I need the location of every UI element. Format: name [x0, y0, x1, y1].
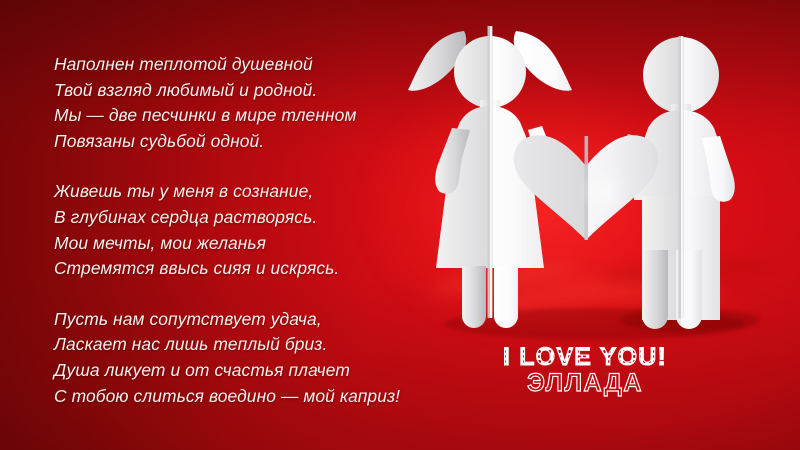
- valentine-poem-card: Наполнен теплотой душевной Твой взгляд л…: [0, 0, 800, 450]
- i-love-you-text: I LOVE YOU!: [487, 344, 683, 370]
- logo-block: I LOVE YOU! ЭЛЛАДА: [487, 344, 683, 397]
- i-love-you-glyphs: I LOVE YOU!: [503, 344, 667, 370]
- brand-glyphs: ЭЛЛАДА: [527, 369, 643, 397]
- heart-sheen: [578, 170, 630, 214]
- brand-text: ЭЛЛАДА: [487, 369, 683, 397]
